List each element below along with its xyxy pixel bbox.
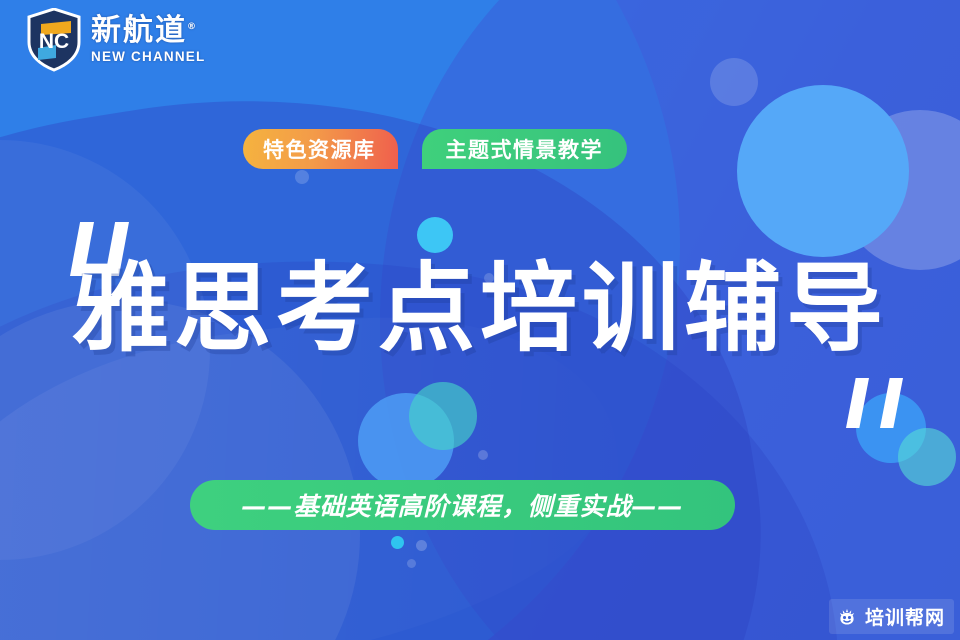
decorative-circle-cyan	[417, 217, 453, 253]
shield-nc-icon: NC	[26, 8, 82, 72]
decorative-dot-bottom-b	[407, 559, 416, 568]
brand-wordmark: 新航道® NEW CHANNEL	[91, 16, 205, 64]
registered-mark: ®	[187, 22, 198, 32]
watermark: 培训帮网	[829, 599, 954, 634]
face-sun-icon	[836, 606, 858, 628]
svg-text:NC: NC	[39, 30, 69, 53]
subtitle-text: ——基础英语高阶课程，侧重实战——	[241, 487, 683, 523]
feature-tag-group: 特色资源库 主题式情景教学	[243, 129, 627, 169]
decorative-dot-mid-right	[478, 450, 488, 460]
close-quote-icon	[846, 378, 903, 428]
feature-tag-resource-library[interactable]: 特色资源库	[243, 129, 398, 169]
decorative-circle-mid-teal	[409, 382, 477, 450]
brand-name-en: NEW CHANNEL	[91, 50, 205, 64]
decorative-circle-top-small	[710, 58, 758, 106]
brand-name-cn-text: 新航道	[91, 13, 187, 48]
watermark-text: 培训帮网	[865, 603, 945, 630]
decorative-dot-bottom-a	[416, 540, 427, 551]
close-quote-stroke-right	[880, 378, 903, 428]
close-quote-stroke-left	[846, 378, 869, 428]
decorative-circle-light-blue-large	[737, 85, 909, 257]
brand-name-cn: 新航道®	[91, 16, 205, 46]
decorative-dot-upper-left	[295, 170, 309, 184]
ielts-training-banner: NC 新航道® NEW CHANNEL 特色资源库 主题式情景教学 雅思考点培训…	[0, 0, 960, 640]
feature-tag-thematic-teaching[interactable]: 主题式情景教学	[422, 129, 628, 169]
brand-logo[interactable]: NC 新航道® NEW CHANNEL	[26, 8, 205, 72]
page-title: 雅思考点培训辅导	[0, 260, 960, 357]
decorative-circle-quote-teal	[898, 428, 956, 486]
subtitle-bar: ——基础英语高阶课程，侧重实战——	[190, 480, 735, 530]
decorative-dot-cyan-bottom	[391, 536, 404, 549]
